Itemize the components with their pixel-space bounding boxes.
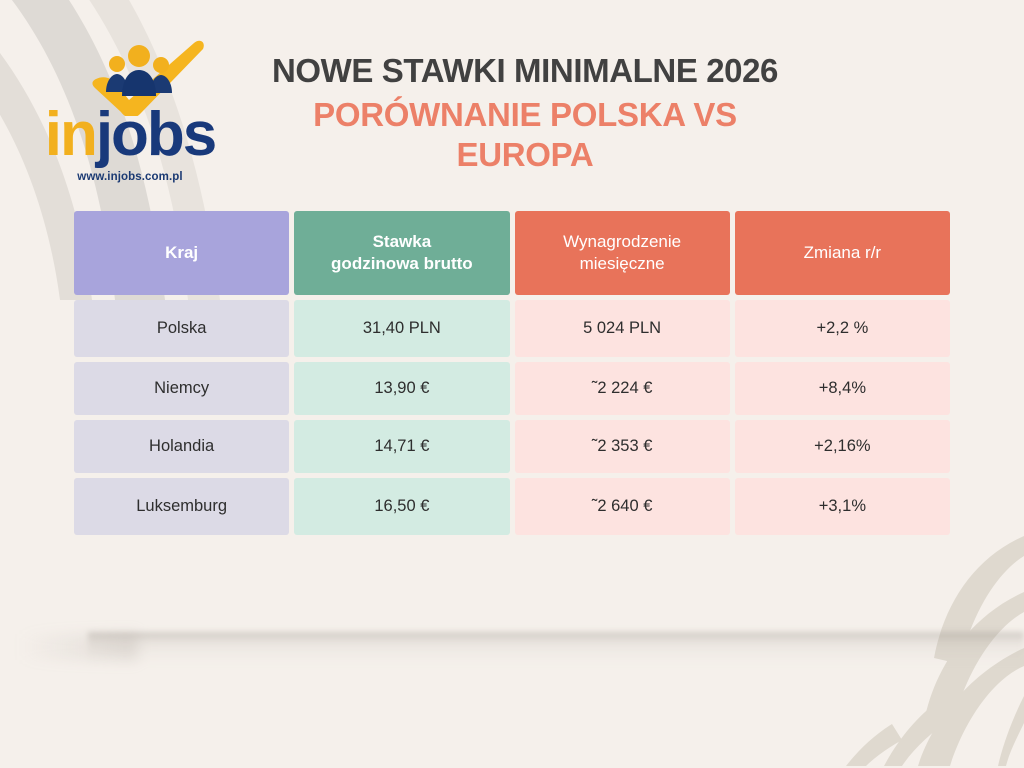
logo-website-url: www.injobs.com.pl xyxy=(30,171,230,183)
cell-change-yoy: +2,16% xyxy=(735,420,950,473)
title-line-2a: PORÓWNANIE POLSKA VS xyxy=(215,95,835,135)
cell-change-yoy: +3,1% xyxy=(735,478,950,535)
header-monthly-line1: Wynagrodzenie xyxy=(563,231,681,253)
page-title: NOWE STAWKI MINIMALNE 2026 PORÓWNANIE PO… xyxy=(215,52,835,175)
cell-country: Niemcy xyxy=(74,362,289,415)
injobs-logo[interactable]: injobs www.injobs.com.pl xyxy=(30,38,230,186)
table-header-row: Kraj Stawka godzinowa brutto Wynagrodzen… xyxy=(74,211,950,295)
title-line-2: PORÓWNANIE POLSKA VS EUROPA xyxy=(215,95,835,176)
logo-wordmark: injobs xyxy=(30,104,230,166)
cell-country: Polska xyxy=(74,300,289,357)
cell-monthly-wage: 5 024 PLN xyxy=(515,300,730,357)
header-hourly-line1: Stawka xyxy=(331,231,473,253)
header-cell-country: Kraj xyxy=(74,211,289,295)
header-hourly-line2: godzinowa brutto xyxy=(331,253,473,275)
logo-word-jobs: jobs xyxy=(96,100,215,169)
cell-hourly-rate: 14,71 € xyxy=(294,420,509,473)
cell-change-yoy: +2,2 % xyxy=(735,300,950,357)
logo-word-in: in xyxy=(45,100,96,169)
header-monthly-line2: miesięczne xyxy=(563,253,681,275)
cell-hourly-rate: 16,50 € xyxy=(294,478,509,535)
fan-leaves-svg xyxy=(784,508,1024,768)
cell-hourly-rate: 13,90 € xyxy=(294,362,509,415)
comparison-table: Kraj Stawka godzinowa brutto Wynagrodzen… xyxy=(74,211,950,535)
cell-monthly-wage: ˜2 353 € xyxy=(515,420,730,473)
title-line-2b: EUROPA xyxy=(215,135,835,175)
header-cell-monthly-wage: Wynagrodzenie miesięczne xyxy=(515,211,730,295)
decorative-fan-bottom-right xyxy=(784,508,1024,768)
title-line-1: NOWE STAWKI MINIMALNE 2026 xyxy=(215,52,835,91)
header-cell-change-yoy: Zmiana r/r xyxy=(735,211,950,295)
table-row: Polska 31,40 PLN 5 024 PLN +2,2 % xyxy=(74,300,950,357)
cell-hourly-rate: 31,40 PLN xyxy=(294,300,509,357)
table-row: Holandia 14,71 € ˜2 353 € +2,16% xyxy=(74,420,950,473)
header: injobs www.injobs.com.pl NOWE STAWKI MIN… xyxy=(0,0,1024,200)
cell-change-yoy: +8,4% xyxy=(735,362,950,415)
cell-monthly-wage: ˜2 224 € xyxy=(515,362,730,415)
cell-country: Holandia xyxy=(74,420,289,473)
cell-monthly-wage: ˜2 640 € xyxy=(515,478,730,535)
header-cell-hourly-rate: Stawka godzinowa brutto xyxy=(294,211,509,295)
cell-country: Luksemburg xyxy=(74,478,289,535)
table-row: Niemcy 13,90 € ˜2 224 € +8,4% xyxy=(74,362,950,415)
panel-drop-shadow xyxy=(88,632,1024,666)
table-row: Luksemburg 16,50 € ˜2 640 € +3,1% xyxy=(74,478,950,535)
